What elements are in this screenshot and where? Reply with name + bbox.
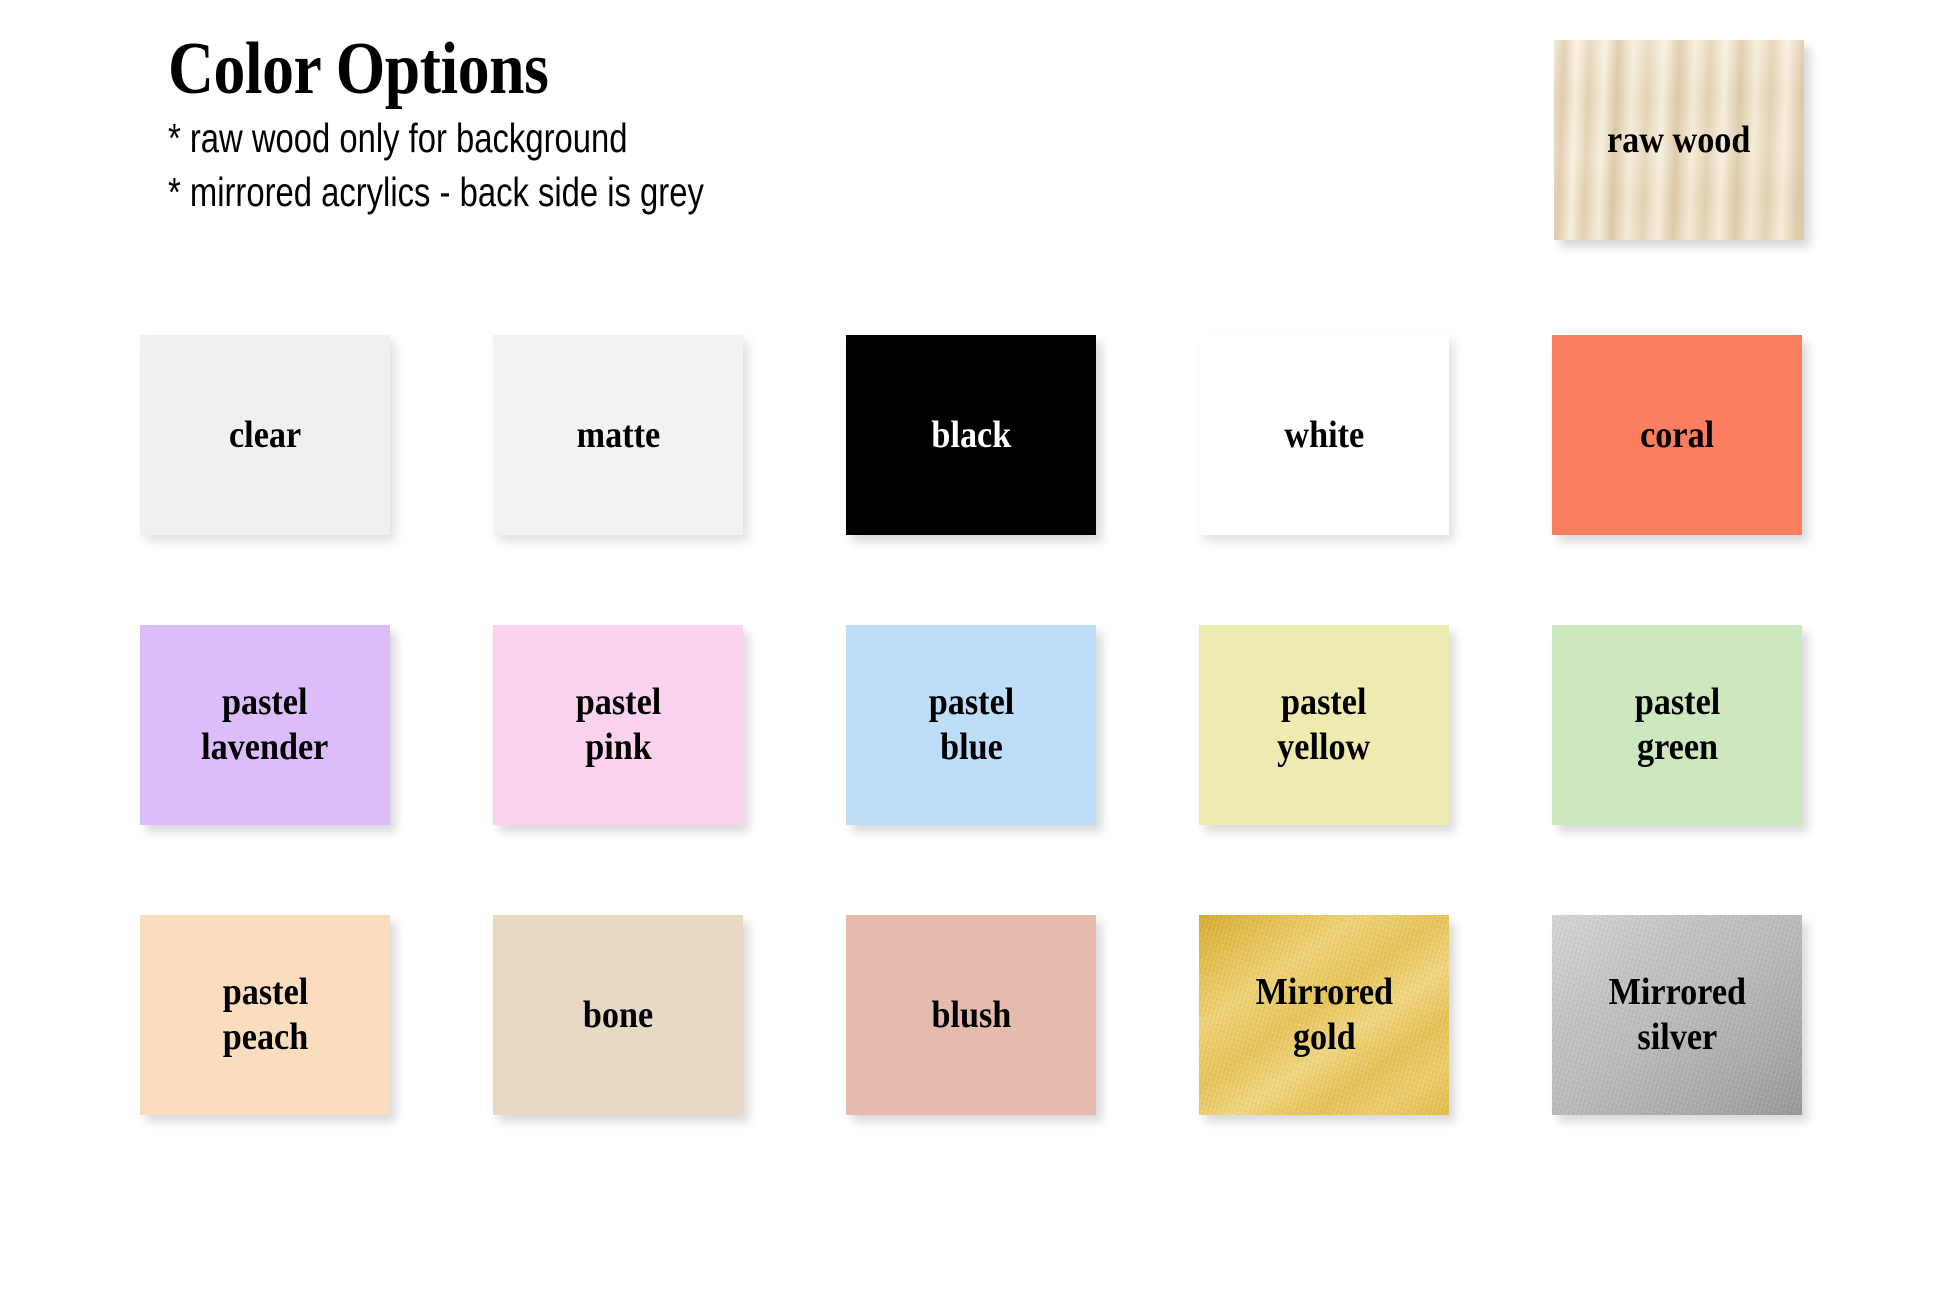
swatch-label: pastel peach: [222, 970, 308, 1060]
swatch-coral[interactable]: coral: [1552, 335, 1802, 535]
swatch-mirrored-silver[interactable]: Mirrored silver: [1552, 915, 1802, 1115]
swatch-label: pastel blue: [928, 680, 1014, 770]
swatch-blush[interactable]: blush: [846, 915, 1096, 1115]
swatch-label: pastel pink: [575, 680, 661, 770]
swatch-pastel-green[interactable]: pastel green: [1552, 625, 1802, 825]
swatch-matte[interactable]: matte: [493, 335, 743, 535]
swatch-label: blush: [931, 993, 1011, 1038]
swatch-pastel-yellow[interactable]: pastel yellow: [1199, 625, 1449, 825]
swatch-label: pastel lavender: [201, 680, 328, 770]
note-mirrored-acrylics: * mirrored acrylics - back side is grey: [168, 165, 1128, 219]
swatch-label: coral: [1640, 413, 1714, 458]
swatch-label: white: [1284, 413, 1364, 458]
header: Color Options * raw wood only for backgr…: [168, 34, 1368, 219]
swatch-pastel-blue[interactable]: pastel blue: [846, 625, 1096, 825]
swatch-label: clear: [229, 413, 301, 458]
swatch-mirrored-gold[interactable]: Mirrored gold: [1199, 915, 1449, 1115]
swatch-raw-wood[interactable]: raw wood: [1554, 40, 1804, 240]
swatch-bone[interactable]: bone: [493, 915, 743, 1115]
swatch-black[interactable]: black: [846, 335, 1096, 535]
swatch-pastel-pink[interactable]: pastel pink: [493, 625, 743, 825]
swatch-label: Mirrored silver: [1608, 970, 1745, 1060]
page-title: Color Options: [168, 34, 1200, 105]
swatch-grid: clearmatteblackwhitecoralpastel lavender…: [140, 335, 1804, 1115]
swatch-label: pastel green: [1634, 680, 1720, 770]
swatch-label: pastel yellow: [1277, 680, 1370, 770]
swatch-label: bone: [583, 993, 653, 1038]
swatch-pastel-lavender[interactable]: pastel lavender: [140, 625, 390, 825]
swatch-label: matte: [576, 413, 660, 458]
swatch-white[interactable]: white: [1199, 335, 1449, 535]
swatch-label: Mirrored gold: [1255, 970, 1392, 1060]
swatch-clear[interactable]: clear: [140, 335, 390, 535]
swatch-label: black: [931, 413, 1011, 458]
swatch-pastel-peach[interactable]: pastel peach: [140, 915, 390, 1115]
note-raw-wood: * raw wood only for background: [168, 111, 1128, 165]
swatch-label: raw wood: [1607, 118, 1750, 163]
